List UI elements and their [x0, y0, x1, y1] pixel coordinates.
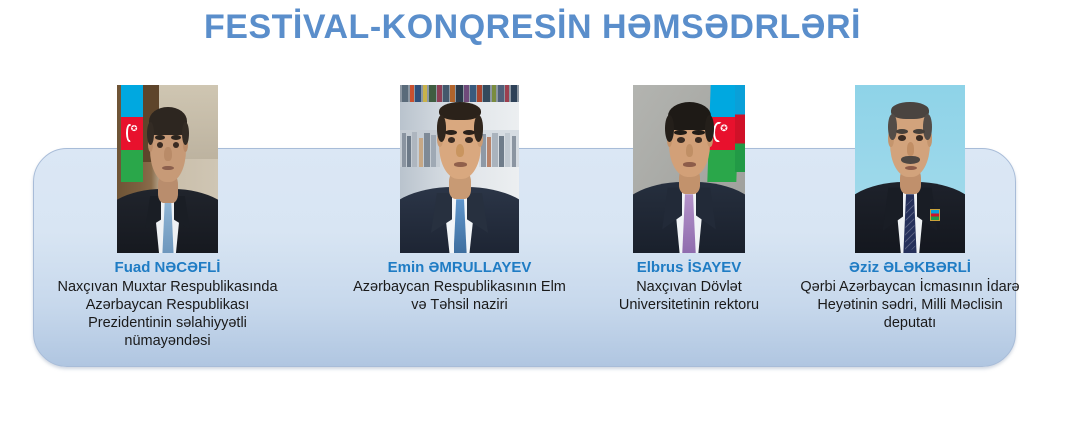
portrait-photo-3 [855, 85, 965, 253]
list-item: ✪ [602, 85, 776, 314]
cochair-name: Əziz ƏLƏKBƏRLİ [798, 259, 1022, 277]
cochair-name: Elbrus İSAYEV [602, 259, 776, 277]
portrait-photo-2: ✪ [633, 85, 745, 253]
cochairs-list: ✪ [0, 0, 1065, 423]
cochair-role: Qərbi Azərbaycan İcmasının İdarə Heyətin… [798, 278, 1022, 332]
list-item: Emin ƏMRULLAYEV Azərbaycan Respublikasın… [345, 85, 574, 314]
cochair-name: Fuad NƏCƏFLİ [48, 259, 287, 277]
cochair-name: Emin ƏMRULLAYEV [345, 259, 574, 277]
list-item: ✪ [48, 85, 287, 350]
cochair-role: Naxçıvan Muxtar Respublikasında Azərbayc… [48, 278, 287, 350]
list-item: Əziz ƏLƏKBƏRLİ Qərbi Azərbaycan İcmasını… [798, 85, 1022, 332]
cochair-role: Naxçıvan Dövlət Universitetinin rektoru [602, 278, 776, 314]
cochair-role: Azərbaycan Respublikasının Elm və Təhsil… [345, 278, 574, 314]
flag-lapel-pin [930, 209, 940, 221]
portrait-photo-0: ✪ [117, 85, 218, 253]
portrait-photo-1 [400, 85, 519, 253]
moustache [901, 156, 920, 164]
